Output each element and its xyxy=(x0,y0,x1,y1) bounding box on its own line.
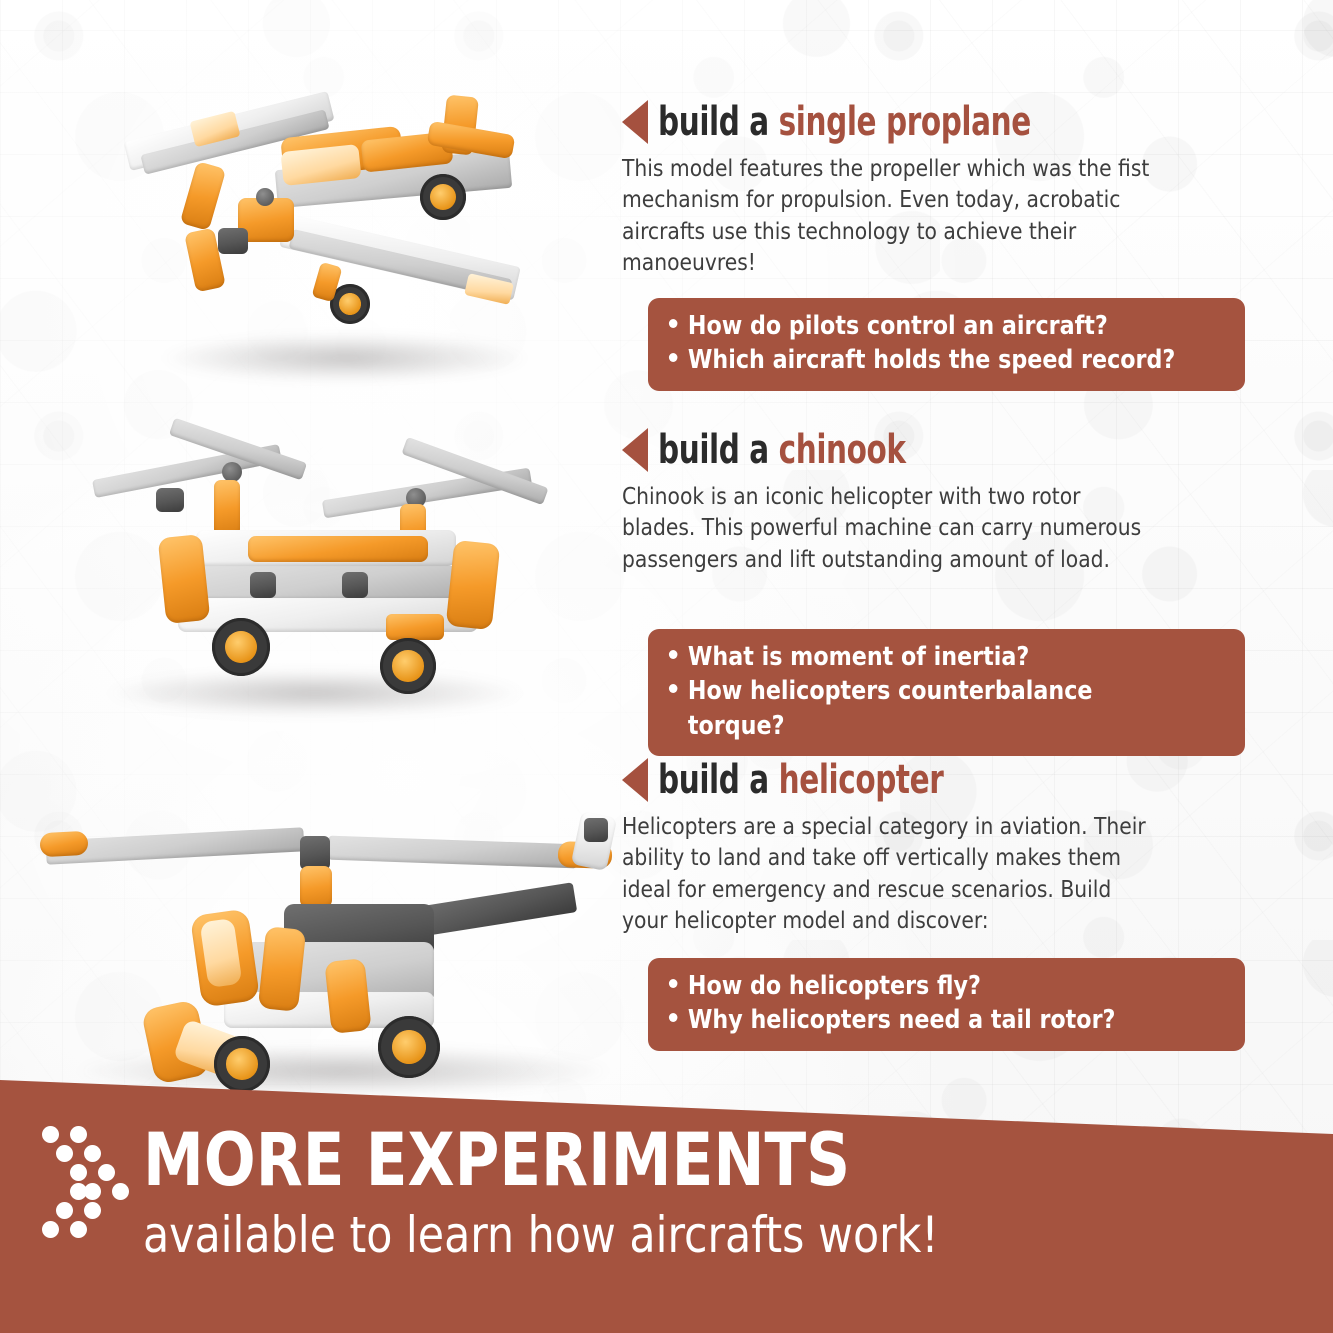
chinook-nose-cluster xyxy=(158,534,211,624)
question-item: What is moment of inertia? xyxy=(648,640,1215,674)
chinook-tail-cluster xyxy=(446,540,501,630)
heli-rotor-hub xyxy=(300,836,330,870)
section-body-text: Helicopters are a special category in av… xyxy=(622,811,1156,936)
section-title-prefix: build a xyxy=(658,427,779,473)
question-box-helicopter: How do helicopters fly? Why helicopters … xyxy=(648,958,1245,1051)
banner-title: MORE EXPERIMENTS xyxy=(143,1124,850,1197)
bullet-dot-icon xyxy=(669,650,678,659)
plane-propeller-axle xyxy=(256,188,274,206)
question-text: Which aircraft holds the speed record? xyxy=(688,343,1175,377)
left-triangle-icon xyxy=(622,428,648,472)
chinook-front-mast xyxy=(214,480,240,536)
chinook-upper-orange xyxy=(248,536,428,562)
section-title-highlight: helicopter xyxy=(779,757,944,803)
chinook-rear-wheel xyxy=(380,638,436,694)
question-item: How do pilots control an aircraft? xyxy=(648,309,1215,343)
question-text: What is moment of inertia? xyxy=(688,640,1029,674)
section-chinook: build a chinook Chinook is an iconic hel… xyxy=(622,428,1262,575)
bullet-dot-icon xyxy=(669,684,678,693)
section-single-proplane: build a single proplane This model featu… xyxy=(622,100,1262,278)
question-box-chinook: What is moment of inertia? How helicopte… xyxy=(648,629,1245,756)
model-shadow xyxy=(109,670,521,716)
heli-mast xyxy=(300,866,332,908)
bullet-dot-icon xyxy=(669,1013,678,1022)
left-triangle-icon xyxy=(622,758,648,802)
bullet-dot-icon xyxy=(669,979,678,988)
section-title-prefix: build a xyxy=(658,757,779,803)
chinook-front-rotor-hub xyxy=(222,462,242,482)
section-heading-row: build a helicopter xyxy=(622,758,1262,802)
heli-tail-rotor-hub xyxy=(584,818,608,842)
chinook-clip-1 xyxy=(156,488,184,512)
model-photo-chinook xyxy=(70,432,560,722)
heli-rotor-right xyxy=(328,836,579,869)
question-box-single-proplane: How do pilots control an aircraft? Which… xyxy=(648,298,1245,391)
chinook-clip-3 xyxy=(342,572,368,598)
heli-rear-wheel xyxy=(378,1016,440,1078)
chinook-clip-2 xyxy=(250,572,276,598)
section-heading-row: build a chinook xyxy=(622,428,1262,472)
question-text: Why helicopters need a tail rotor? xyxy=(688,1003,1116,1037)
model-photo-single-proplane xyxy=(130,88,560,388)
section-helicopter: build a helicopter Helicopters are a spe… xyxy=(622,758,1262,936)
question-text: How helicopters counterbalance torque? xyxy=(688,674,1194,743)
plane-rear-wheel xyxy=(420,174,466,220)
question-item: How helicopters counterbalance torque? xyxy=(648,674,1215,743)
model-photo-helicopter xyxy=(28,792,658,1102)
section-body-text: This model features the propeller which … xyxy=(622,153,1156,278)
heli-inner-frame xyxy=(258,926,306,1012)
section-body-text: Chinook is an iconic helicopter with two… xyxy=(622,481,1156,575)
section-title-prefix: build a xyxy=(658,99,779,145)
infographic-page: build a single proplane This model featu… xyxy=(0,0,1333,1333)
question-text: How do pilots control an aircraft? xyxy=(688,309,1108,343)
chinook-mid-hull xyxy=(186,566,476,600)
model-shadow xyxy=(164,334,525,382)
plane-hub-clip xyxy=(218,228,248,254)
heli-front-wheel xyxy=(214,1036,270,1092)
section-title-highlight: single proplane xyxy=(779,99,1031,145)
bullet-dot-icon xyxy=(669,353,678,362)
chinook-rear-ramp xyxy=(386,614,444,640)
section-heading-row: build a single proplane xyxy=(622,100,1262,144)
heli-side-frame xyxy=(324,958,371,1034)
chinook-front-wheel xyxy=(212,618,270,676)
section-title: build a chinook xyxy=(658,430,906,470)
bullet-dot-icon xyxy=(669,319,678,328)
question-item: Which aircraft holds the speed record? xyxy=(648,343,1215,377)
question-text: How do helicopters fly? xyxy=(688,969,981,1003)
plane-propeller-upper xyxy=(180,161,226,231)
question-item: How do helicopters fly? xyxy=(648,969,1215,1003)
heli-rotor-tip-left xyxy=(39,831,88,857)
question-item: Why helicopters need a tail rotor? xyxy=(648,1003,1215,1037)
section-title-highlight: chinook xyxy=(779,427,906,473)
section-title: build a helicopter xyxy=(658,760,943,800)
engino-dot-chevron-logo xyxy=(42,1126,142,1238)
left-triangle-icon xyxy=(622,100,648,144)
section-title: build a single proplane xyxy=(658,102,1031,142)
banner-subtitle: available to learn how aircrafts work! xyxy=(143,1210,939,1260)
